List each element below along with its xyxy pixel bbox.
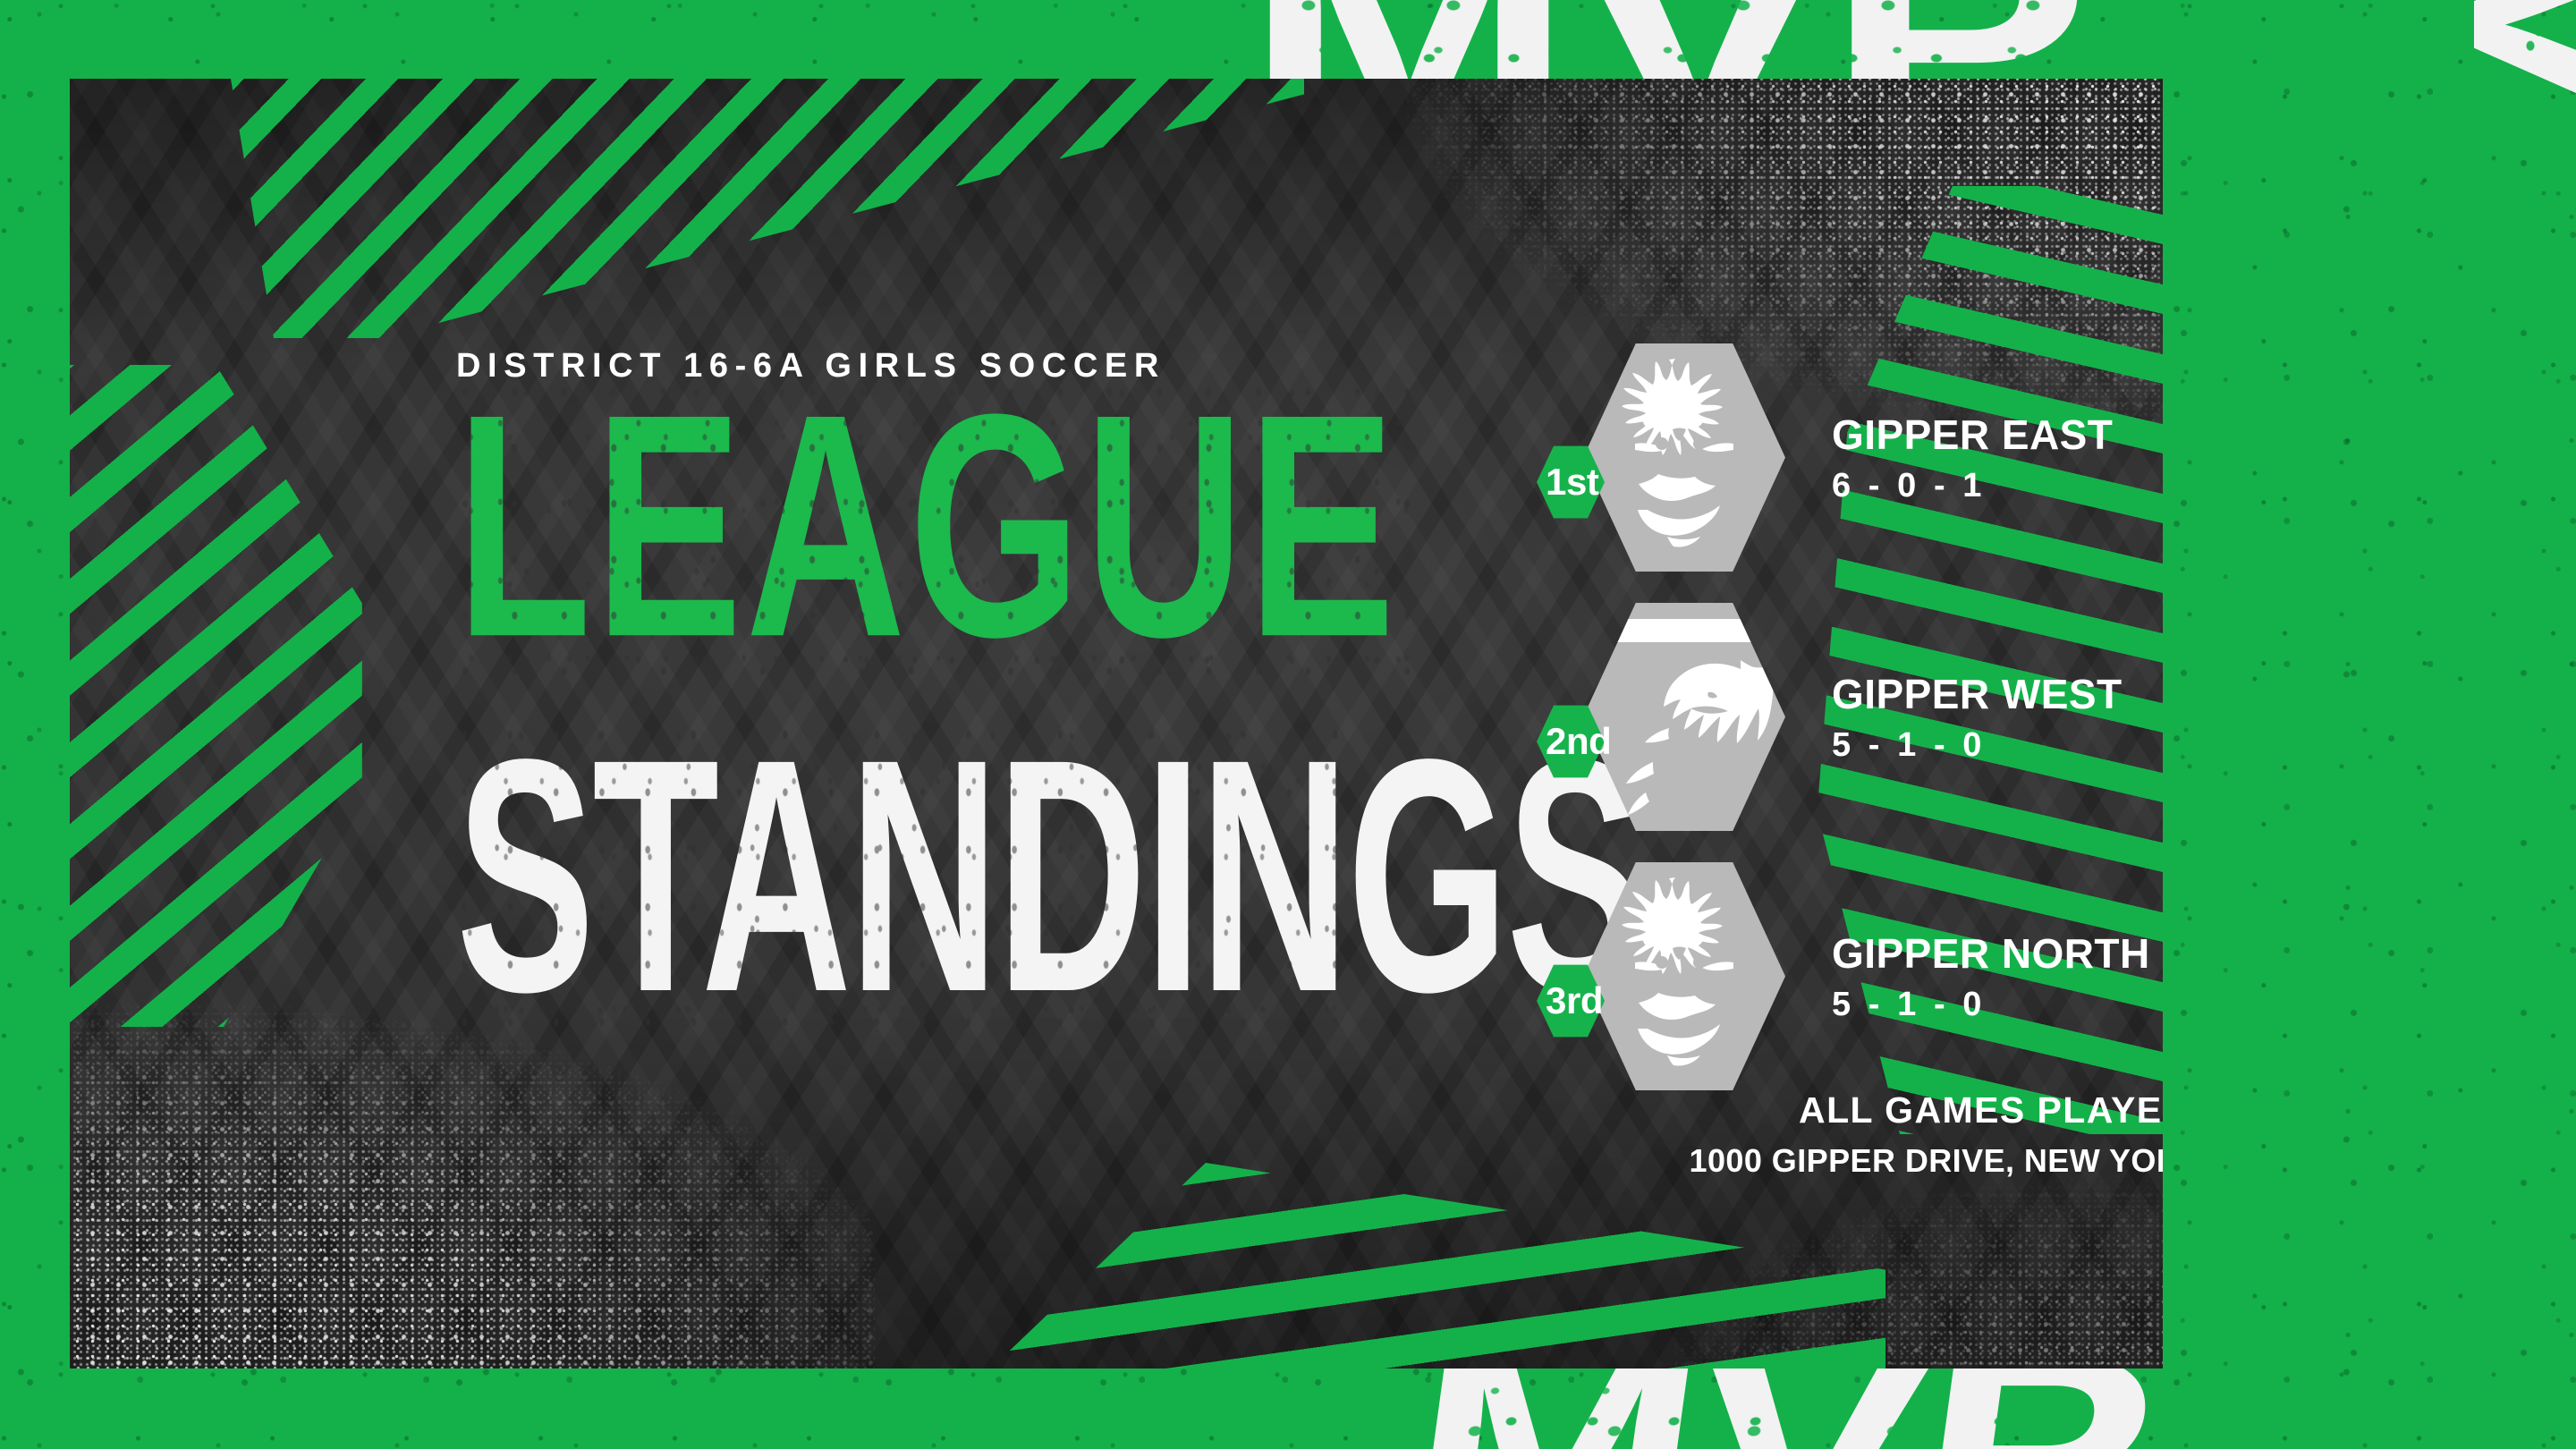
rank-label: 2nd — [1537, 703, 1635, 780]
rank-label: 1st — [1537, 444, 1635, 521]
table-row[interactable]: 3rd GIPPER NORTH 5 - 1 - 0 — [1501, 862, 2163, 1122]
table-row[interactable]: 1st GIPPER EAST 6 - 0 - 1 — [1501, 343, 2163, 603]
table-row[interactable]: 2nd GIPPER WEST 5 - 1 - 0 — [1501, 603, 2163, 862]
team-info: GIPPER WEST 5 - 1 - 0 — [1832, 673, 2123, 765]
team-name: GIPPER EAST — [1832, 413, 2113, 456]
content-panel: DISTRICT 16-6A GIRLS SOCCER LEAGUE STAND… — [70, 79, 2163, 1368]
venue-block: ALL GAMES PLAYED AT: 1000 GIPPER DRIVE, … — [1501, 1089, 2163, 1180]
team-name: GIPPER NORTH — [1832, 932, 2150, 975]
league-standings-poster: MVP MV MVP DISTRICT 16-6A GIRLS SOCCER L… — [0, 0, 2576, 1449]
team-name: GIPPER WEST — [1832, 673, 2123, 716]
brand-type-right: MV — [2460, 0, 2576, 125]
team-record: 5 - 1 - 0 — [1832, 986, 2150, 1024]
venue-address: 1000 GIPPER DRIVE, NEW YORK, NY 00000 — [1501, 1142, 2163, 1180]
team-info: GIPPER NORTH 5 - 1 - 0 — [1832, 932, 2150, 1024]
team-record: 6 - 0 - 1 — [1832, 467, 2113, 505]
rank-label: 3rd — [1537, 962, 1635, 1039]
team-info: GIPPER EAST 6 - 0 - 1 — [1832, 413, 2113, 505]
standings-list: 1st GIPPER EAST 6 - 0 - 1 — [1501, 343, 2163, 1122]
headline-line-standings: STANDINGS — [456, 746, 1340, 1004]
team-record: 5 - 1 - 0 — [1832, 726, 2123, 765]
headline-block: DISTRICT 16-6A GIRLS SOCCER LEAGUE STAND… — [456, 347, 1422, 923]
venue-label: ALL GAMES PLAYED AT: — [1501, 1089, 2163, 1131]
headline-line-league: LEAGUE — [456, 402, 1412, 649]
